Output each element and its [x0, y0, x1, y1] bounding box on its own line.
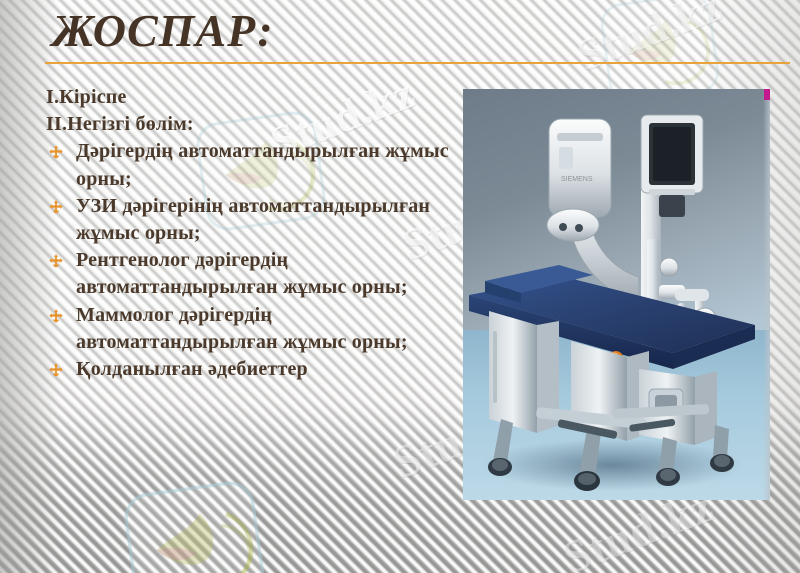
- title-divider: [45, 62, 790, 64]
- medical-equipment-photo: SIEMENS: [463, 89, 770, 500]
- slide-title: ЖОСПАР:: [52, 2, 274, 60]
- list-item-label: Дәрігердің автоматтандырылған жұмыс орны…: [76, 140, 449, 189]
- list-item: Қолданылған әдебиеттер: [46, 356, 451, 383]
- outline-lead-item: I.Кіріспе: [46, 84, 451, 111]
- photo-edge-band: [763, 89, 770, 500]
- anchor-bullet-icon: [48, 362, 64, 378]
- list-item: УЗИ дәрігерінің автоматтандырылған жұмыс…: [46, 193, 451, 247]
- photo-illustration: SIEMENS: [463, 89, 770, 500]
- list-item: Дәрігердің автоматтандырылған жұмыс орны…: [46, 138, 451, 192]
- anchor-bullet-icon: [48, 308, 64, 324]
- list-item-label: Рентгенолог дәрігердің автоматтандырылға…: [76, 249, 408, 298]
- list-item-label: УЗИ дәрігерінің автоматтандырылған жұмыс…: [76, 195, 430, 244]
- svg-text:SIEMENS: SIEMENS: [561, 176, 593, 183]
- anchor-bullet-icon: [48, 253, 64, 269]
- outline-content: I.Кіріспе II.Негізгі бөлім: Дәрігердің а…: [46, 84, 451, 383]
- list-item: Рентгенолог дәрігердің автоматтандырылға…: [46, 247, 451, 301]
- anchor-bullet-icon: [48, 199, 64, 215]
- presentation-slide: Stud.kz Stud.kz Stud.kz Stud.kz Stud.kz …: [0, 0, 800, 573]
- photo-corner-marker: [764, 89, 770, 100]
- outline-lead-item: II.Негізгі бөлім:: [46, 111, 451, 138]
- outline-bullet-list: Дәрігердің автоматтандырылған жұмыс орны…: [46, 138, 451, 383]
- anchor-bullet-icon: [48, 144, 64, 160]
- list-item-label: Маммолог дәрігердің автоматтандырылған ж…: [76, 304, 408, 353]
- list-item: Маммолог дәрігердің автоматтандырылған ж…: [46, 302, 451, 356]
- list-item-label: Қолданылған әдебиеттер: [76, 358, 308, 380]
